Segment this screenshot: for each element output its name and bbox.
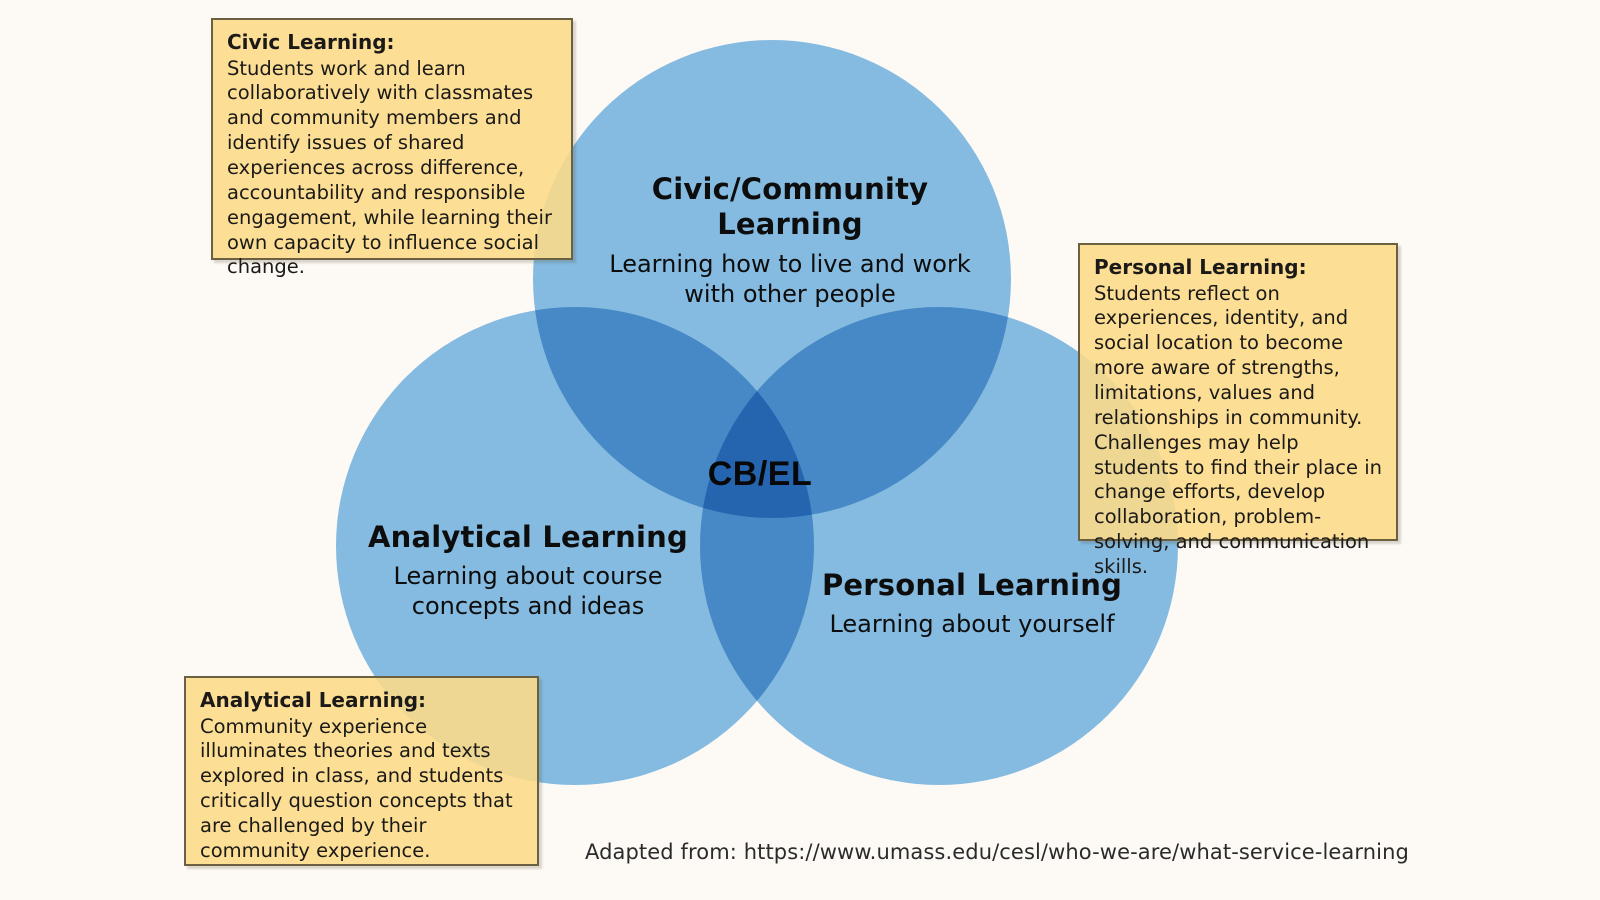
callout-analytical-body: Community experience illuminates theorie… bbox=[200, 715, 525, 864]
circle-subtitle-analytical-line2: concepts and ideas bbox=[412, 592, 645, 620]
circle-subtitle-civic-line1: Learning how to live and work bbox=[609, 250, 971, 278]
callout-civic-title: Civic Learning: bbox=[227, 30, 559, 56]
circle-label-civic: Civic/Community Learning Learning how to… bbox=[575, 172, 1005, 309]
callout-civic-learning: Civic Learning: Students work and learn … bbox=[211, 18, 573, 260]
callout-personal-learning: Personal Learning: Students reflect on e… bbox=[1078, 243, 1398, 541]
circle-title-personal: Personal Learning bbox=[812, 568, 1132, 603]
circle-subtitle-personal: Learning about yourself bbox=[812, 609, 1132, 639]
circle-subtitle-civic-line2: with other people bbox=[684, 280, 895, 308]
circle-title-civic: Civic/Community Learning bbox=[575, 172, 1005, 243]
circle-subtitle-civic: Learning how to live and work with other… bbox=[575, 249, 1005, 309]
circle-label-analytical: Analytical Learning Learning about cours… bbox=[368, 520, 688, 621]
source-attribution: Adapted from: https://www.umass.edu/cesl… bbox=[585, 840, 1409, 864]
callout-personal-title: Personal Learning: bbox=[1094, 255, 1384, 281]
circle-subtitle-analytical-line1: Learning about course bbox=[394, 562, 663, 590]
circle-title-civic-line2: Learning bbox=[717, 207, 863, 241]
callout-civic-body: Students work and learn collaboratively … bbox=[227, 57, 559, 281]
circle-label-personal: Personal Learning Learning about yoursel… bbox=[812, 568, 1132, 639]
circle-title-analytical: Analytical Learning bbox=[368, 520, 688, 555]
venn-center-label: CB/EL bbox=[655, 455, 865, 494]
circle-title-civic-line1: Civic/Community bbox=[652, 172, 929, 206]
diagram-canvas: Civic/Community Learning Learning how to… bbox=[0, 0, 1600, 900]
callout-personal-body: Students reflect on experiences, identit… bbox=[1094, 282, 1384, 580]
callout-analytical-title: Analytical Learning: bbox=[200, 688, 525, 714]
circle-subtitle-analytical: Learning about course concepts and ideas bbox=[368, 561, 688, 621]
callout-analytical-learning: Analytical Learning: Community experienc… bbox=[184, 676, 539, 866]
